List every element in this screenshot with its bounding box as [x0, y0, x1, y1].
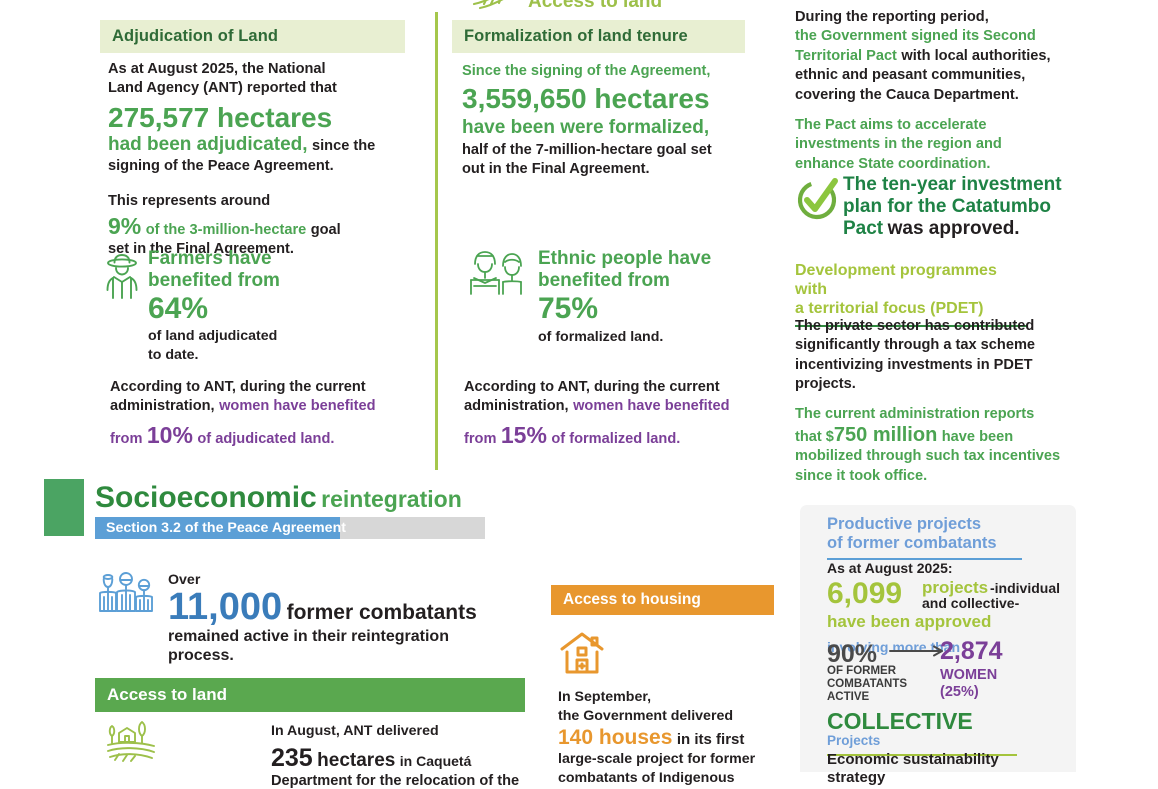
- ant-note-left-from: from: [110, 431, 142, 447]
- pdet-p1-line-4: projects.: [795, 375, 1080, 394]
- pact-aims-line-3: enhance State coordination.: [795, 155, 1077, 174]
- access-to-housing-banner: Access to housing: [551, 585, 774, 615]
- house-icon: [559, 630, 605, 676]
- adjudication-of-land-header: Adjudication of Land: [100, 20, 405, 53]
- pact-aims-line-2: investments in the region and: [795, 135, 1077, 154]
- page-title: Socioeconomic reintegration: [95, 481, 462, 515]
- ethnic-stat-title-1: Ethnic people have: [538, 248, 778, 270]
- farmers-stat-sub-2: to date.: [148, 346, 428, 365]
- adjudication-lead-1: As at August 2025, the National: [108, 60, 428, 79]
- field-grass-icon: [470, 0, 522, 12]
- ant-note-left-line-1: According to ANT, during the current: [110, 378, 430, 397]
- pdet-p1-line-3: incentivizing investments in PDET: [795, 356, 1080, 375]
- farmers-stat-sub-1: of land adjudicated: [148, 327, 428, 346]
- women-percentage: (25%): [940, 684, 1050, 701]
- ant-note-mid-line-3c: of formalized land.: [551, 431, 680, 447]
- formalized-tail-1: half of the 7-million-hectare goal set: [462, 141, 772, 160]
- pdet-p1-line-2: significantly through a tax scheme: [795, 336, 1080, 355]
- adjudicated-figure-tail: since the: [312, 138, 375, 154]
- ethnic-percentage: 75%: [538, 293, 778, 325]
- productive-title-2: of former combatants: [827, 534, 1022, 553]
- ant-note-mid-women: women have benefited: [573, 398, 730, 414]
- pdet-amount: 750 million: [834, 424, 937, 446]
- productive-approved: have been approved: [827, 612, 1067, 632]
- access-land-line-1: In August, ANT delivered: [271, 722, 541, 741]
- econ-sustainability-line-1: Economic sustainability: [827, 751, 1057, 769]
- pdet-p2-line-1: The current administration reports: [795, 405, 1080, 424]
- formalization-header: Formalization of land tenure: [452, 20, 745, 53]
- houses-delivered-tail: in its first: [677, 731, 745, 748]
- socio-color-swatch: [44, 479, 84, 536]
- access-land-hectares-figure: 235: [271, 744, 313, 772]
- combatants-sub-2: process.: [168, 646, 518, 665]
- combatants-active-line-3: ACTIVE: [827, 691, 937, 704]
- women-formalized-percentage: 15%: [501, 422, 547, 448]
- former-combatants-count: 11,000: [168, 586, 282, 628]
- combatants-active-line-2: COMBATANTS: [827, 678, 937, 691]
- top-access-to-land-title: Access to land: [528, 0, 788, 13]
- catatumbo-line-2: plan for the Catatumbo: [843, 196, 1078, 218]
- combatants-active-line-1: OF FORMER: [827, 665, 937, 678]
- catatumbo-line-3b: was approved.: [888, 218, 1020, 239]
- productive-asat-date: As at August 2025:: [827, 560, 1067, 576]
- adjudicated-figure-sub: had been adjudicated,: [108, 134, 308, 155]
- catatumbo-line-1: The ten-year investment: [843, 174, 1078, 196]
- formalization-lead: Since the signing of the Agreement,: [462, 62, 772, 81]
- farmer-icon: [100, 252, 144, 300]
- territorial-pact-line-5: covering the Cauca Department.: [795, 86, 1077, 105]
- formalized-hectares-figure: 3,559,650 hectares: [462, 84, 772, 114]
- farmers-stat-title-1: Farmers have: [148, 248, 428, 270]
- formalized-figure-sub: have been were formalized,: [462, 117, 772, 139]
- former-combatants-label: former combatants: [287, 601, 477, 624]
- territorial-pact-line-3a: Territorial Pact: [795, 48, 897, 64]
- women-label: WOMEN: [940, 667, 1050, 684]
- section-label: Section 3.2 of the Peace Agreement: [106, 520, 346, 536]
- women-count: 2,874: [940, 639, 1050, 665]
- arrow-right-icon: [889, 645, 947, 657]
- housing-line-1: In September,: [558, 688, 783, 707]
- housing-line-5: combatants of Indigenous: [558, 769, 783, 788]
- farmers-percentage: 64%: [148, 293, 428, 325]
- page-title-word-2: reintegration: [321, 486, 462, 512]
- pact-aims-line-1: The Pact aims to accelerate: [795, 116, 1077, 135]
- adjudicated-hectares-figure: 275,577 hectares: [108, 103, 428, 133]
- pdet-p2-line-2c: have been: [942, 429, 1013, 445]
- territorial-pact-line-4: ethnic and peasant communities,: [795, 66, 1077, 85]
- access-land-location: in Caquetá: [400, 753, 472, 769]
- combatants-sub-1: remained active in their reintegration: [168, 627, 518, 646]
- adjudicated-figure-tail-2: signing of the Peace Agreement.: [108, 157, 428, 176]
- housing-line-2: the Government delivered: [558, 707, 783, 726]
- goal-mid-text: of the 3-million-hectare: [146, 222, 307, 238]
- goal-tail: goal: [311, 222, 341, 238]
- access-land-hectares-unit: hectares: [317, 750, 395, 771]
- ethnic-stat-title-2: benefited from: [538, 270, 778, 292]
- housing-line-4: large-scale project for former: [558, 750, 783, 769]
- collective-sub: Projects: [827, 734, 1017, 749]
- column-divider: [435, 12, 438, 470]
- pdet-title-line-1: Development programmes with: [795, 261, 1027, 299]
- represents-lead: This represents around: [108, 192, 428, 211]
- collective-heading: COLLECTIVE: [827, 709, 1017, 733]
- ethnic-stat-sub-1: of formalized land.: [538, 328, 778, 347]
- territorial-pact-line-3b: with local authorities,: [901, 48, 1050, 64]
- goal-percentage: 9%: [108, 213, 141, 239]
- catatumbo-line-3a: Pact: [843, 218, 883, 239]
- formalized-tail-2: out in the Final Agreement.: [462, 160, 772, 179]
- productive-individual-label: -individual: [990, 580, 1060, 596]
- ant-note-left-women: women have benefited: [219, 398, 376, 414]
- access-to-land-banner: Access to land: [95, 678, 525, 712]
- productive-title-1: Productive projects: [827, 515, 1022, 534]
- ant-note-mid-from: from: [464, 431, 496, 447]
- houses-delivered-figure: 140 houses: [558, 726, 672, 749]
- pdet-p2-line-4: since it took office.: [795, 467, 1080, 486]
- pdet-p2-line-2a: that $: [795, 429, 834, 445]
- ant-note-left-line-2a: administration,: [110, 398, 215, 414]
- group-people-icon: [95, 570, 157, 614]
- women-adjudicated-percentage: 10%: [147, 422, 193, 448]
- ant-note-mid-line-2a: administration,: [464, 398, 569, 414]
- productive-projects-count: 6,099: [827, 577, 902, 611]
- ethnic-people-icon: [465, 250, 527, 298]
- territorial-pact-line-1: During the reporting period,: [795, 8, 1077, 27]
- territorial-pact-line-2: the Government signed its Second: [795, 27, 1077, 46]
- pdet-p2-line-3: mobilized through such tax incentives: [795, 447, 1080, 466]
- farmers-stat-title-2: benefited from: [148, 270, 428, 292]
- access-land-line-3: Department for the relocation of the: [271, 773, 541, 789]
- farm-landscape-icon: [106, 718, 158, 764]
- productive-collective-label: and collective-: [922, 595, 1019, 611]
- combatants-active-percentage: 90%: [827, 640, 877, 668]
- pdet-p1-line-1: The private sector has contributed: [795, 317, 1080, 336]
- check-circle-icon: [795, 176, 841, 222]
- page-title-word-1: Socioeconomic: [95, 481, 317, 514]
- pdet-title-line-2: a territorial focus (PDET): [795, 299, 1027, 318]
- adjudication-lead-2: Land Agency (ANT) reported that: [108, 79, 428, 98]
- ant-note-left-line-3c: of adjudicated land.: [197, 431, 334, 447]
- ant-note-mid-line-1: According to ANT, during the current: [464, 378, 784, 397]
